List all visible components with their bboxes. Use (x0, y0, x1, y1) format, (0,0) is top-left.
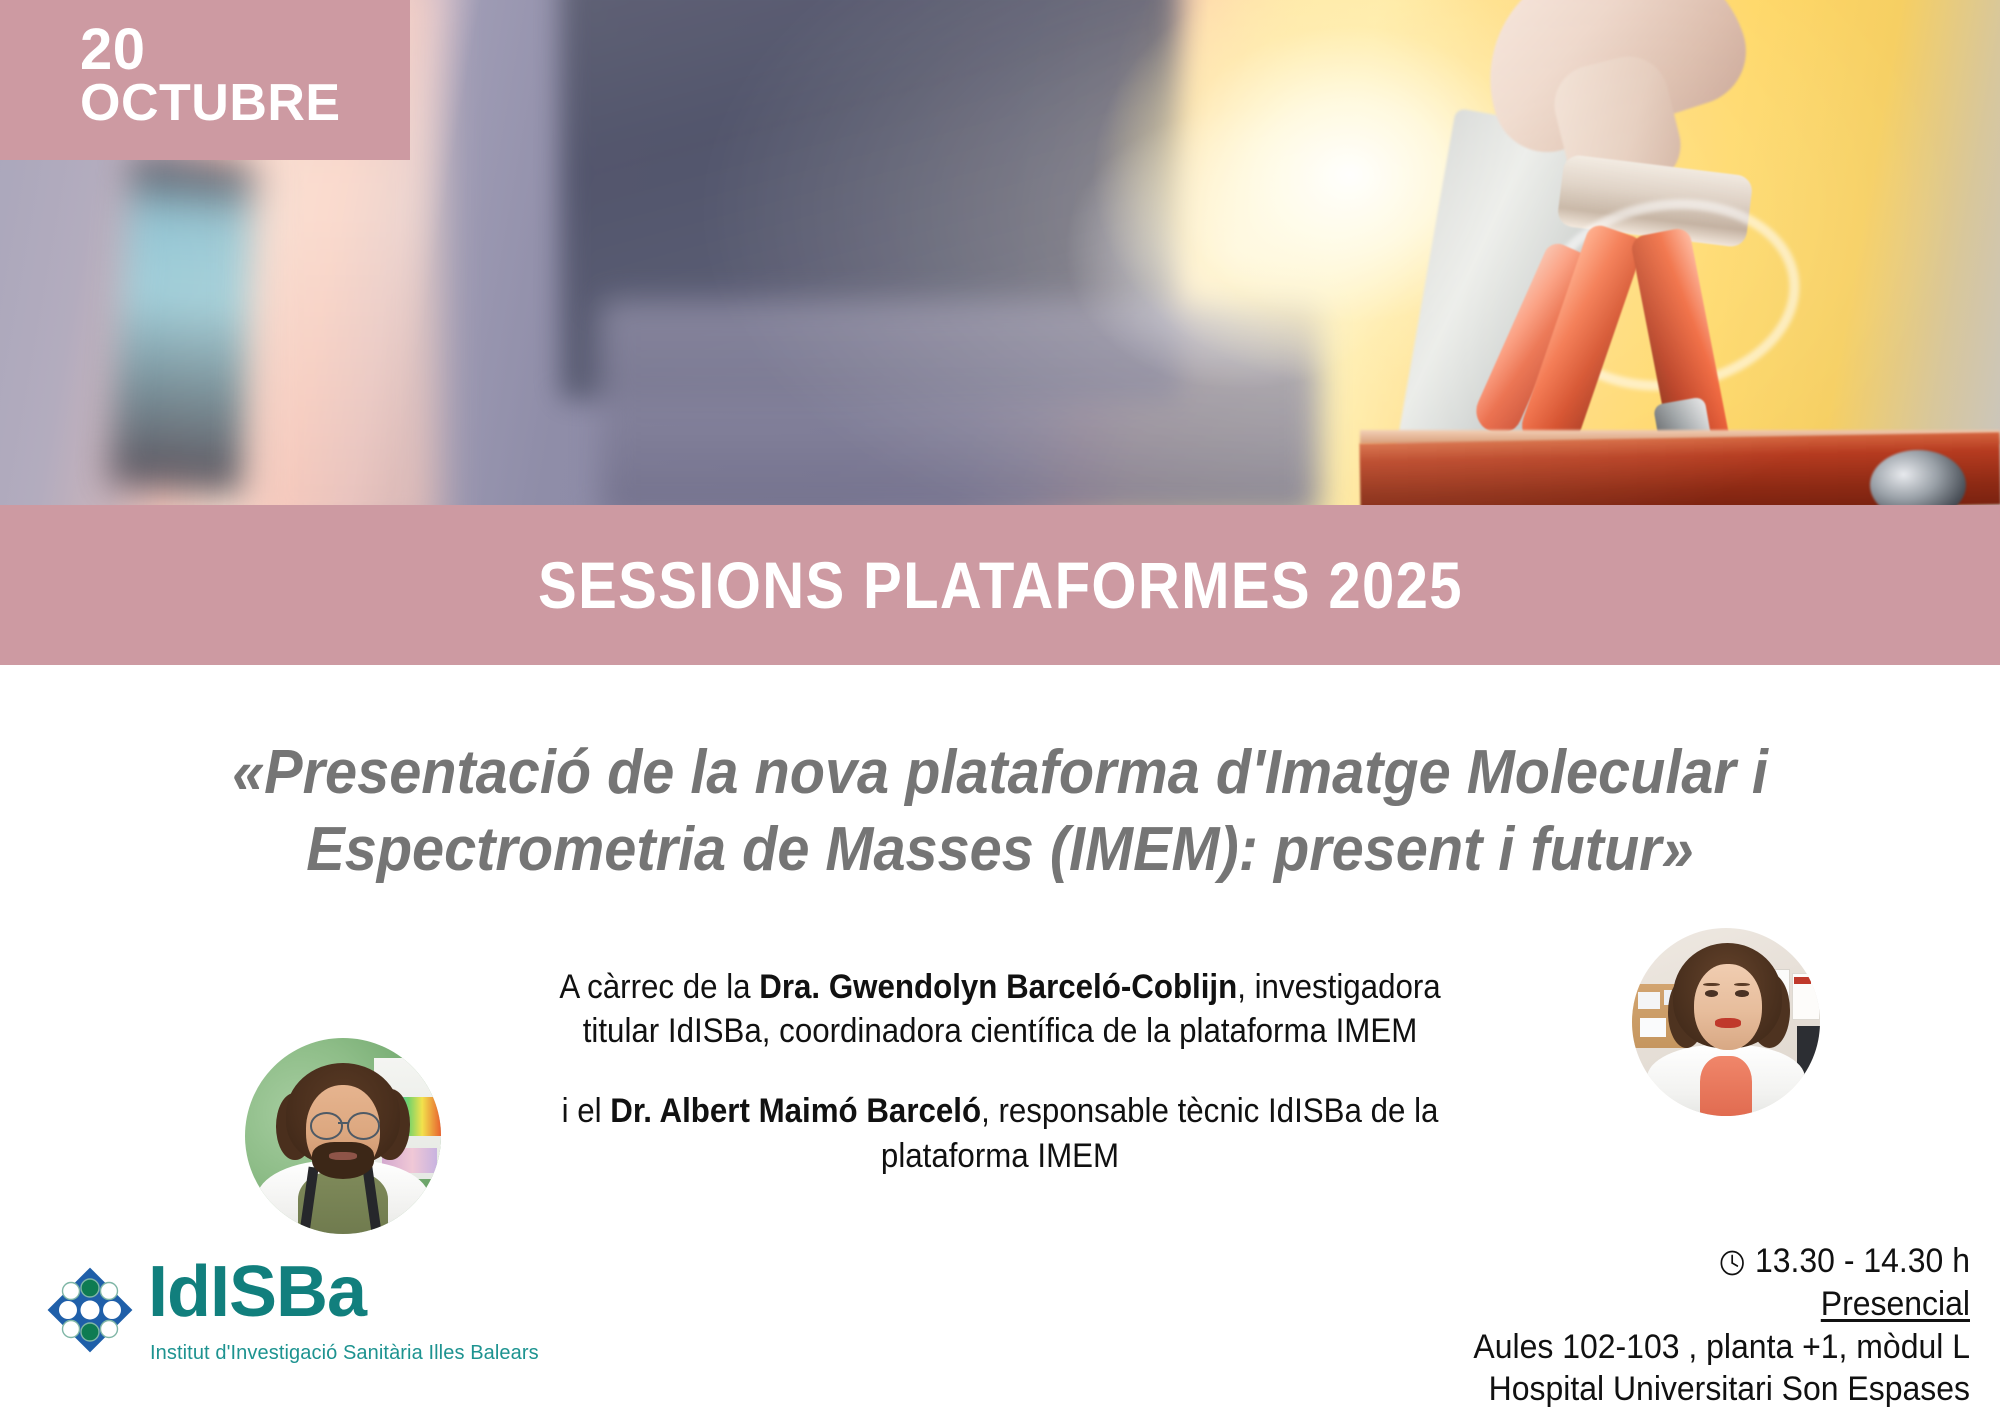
idisba-diamond-icon (40, 1260, 140, 1360)
speaker-2-role-a: , responsable tècnic IdISBa de la (981, 1092, 1438, 1130)
venue-info-block: 13.30 - 14.30 h Presencial Aules 102-103… (1293, 1240, 1970, 1411)
speaker-2-name: Dr. Albert Maimó Barceló (610, 1092, 981, 1130)
avatar-speaker-albert-maimo (245, 1038, 441, 1234)
event-poster: 20 OCTUBRE SESSIONS PLATAFORMES 2025 «Pr… (0, 0, 2000, 1414)
event-room: Aules 102-103 , planta +1, mòdul L (1293, 1326, 1970, 1369)
avatar-speaker-gwendolyn-barcelo (1632, 928, 1820, 1116)
date-badge: 20 OCTUBRE (0, 0, 410, 160)
avatar-eye-left (1705, 990, 1718, 997)
avatar-glasses-left (310, 1112, 343, 1140)
event-time-row: 13.30 - 14.30 h (1293, 1240, 1970, 1283)
avatar-note-3 (1640, 1018, 1666, 1037)
series-title-band: SESSIONS PLATAFORMES 2025 (0, 505, 2000, 665)
speaker-2-prefix: i el (562, 1092, 611, 1130)
page-title-line-1: «Presentació de la nova plataforma d'Ima… (163, 735, 1837, 812)
event-time: 13.30 - 14.30 h (1755, 1240, 1970, 1283)
avatar-top (1700, 1056, 1753, 1116)
avatar-glasses-bridge (338, 1122, 348, 1124)
date-month: OCTUBRE (80, 77, 410, 130)
speakers-spacer (466, 1053, 1533, 1089)
event-modality: Presencial (1821, 1285, 1970, 1323)
event-place: Hospital Universitari Son Espases (1293, 1368, 1970, 1411)
avatar-beard (312, 1142, 375, 1179)
speaker-1-role-a: , investigadora (1237, 968, 1440, 1006)
idisba-wordmark: IdISBa (148, 1256, 366, 1328)
clock-icon (1718, 1246, 1746, 1276)
idisba-tagline: Institut d'Investigació Sanitària Illes … (150, 1342, 539, 1365)
speaker-1-line-1: A càrrec de la Dra. Gwendolyn Barceló-Co… (466, 965, 1533, 1009)
idisba-logo: IdISBa Institut d'Investigació Sanitària… (40, 1258, 460, 1378)
avatar-mouth (329, 1152, 356, 1160)
avatar-eye-right (1735, 990, 1748, 997)
page-title: «Presentació de la nova plataforma d'Ima… (163, 735, 1837, 889)
avatar-note-1 (1638, 992, 1661, 1009)
speaker-1-line-2: titular IdISBa, coordinadora científica … (466, 1009, 1533, 1053)
speakers-block: A càrrec de la Dra. Gwendolyn Barceló-Co… (466, 965, 1533, 1178)
page-title-line-2: Espectrometria de Masses (IMEM): present… (163, 812, 1837, 889)
date-day: 20 (80, 22, 410, 77)
avatar-glasses-right (347, 1112, 380, 1140)
speaker-1-prefix: A càrrec de la (559, 968, 759, 1006)
avatar-red-marker (1794, 977, 1811, 985)
avatar-lips (1715, 1018, 1741, 1027)
speaker-2-line-1: i el Dr. Albert Maimó Barceló, responsab… (466, 1089, 1533, 1133)
event-modality-row: Presencial (1293, 1283, 1970, 1326)
speaker-1-name: Dra. Gwendolyn Barceló-Coblijn (759, 968, 1237, 1006)
series-title: SESSIONS PLATAFORMES 2025 (538, 547, 1463, 623)
speaker-2-line-2: plataforma IMEM (466, 1134, 1533, 1178)
avatar-face (1694, 964, 1762, 1050)
